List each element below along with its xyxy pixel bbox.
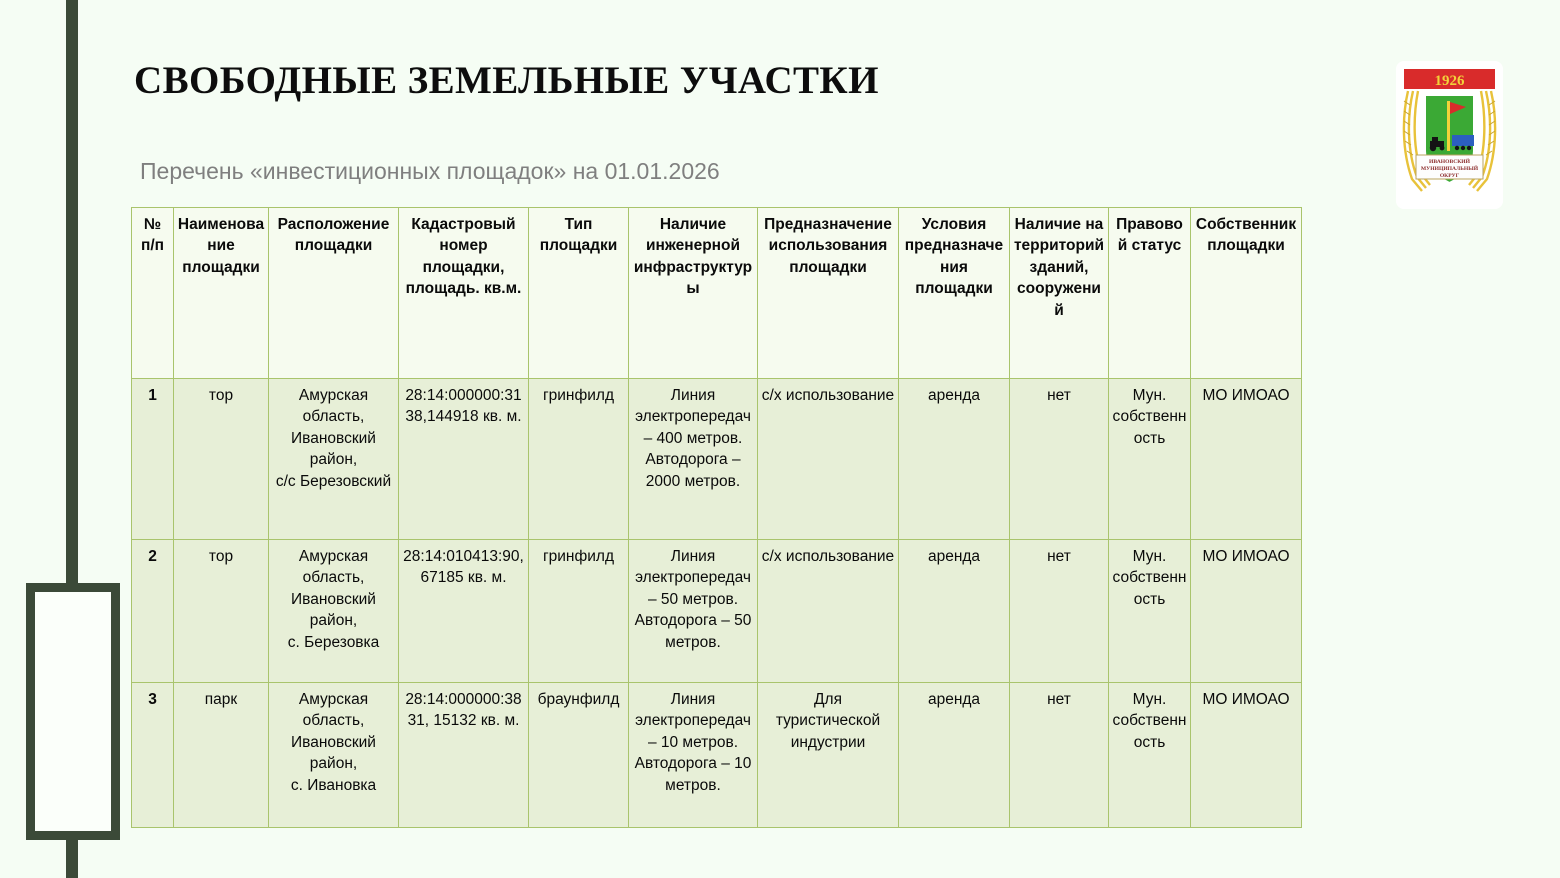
cell-conditions: аренда bbox=[899, 683, 1010, 828]
cell-legal-status: Мун. собственность bbox=[1109, 379, 1191, 540]
page-subtitle: Перечень «инвестиционных площадок» на 01… bbox=[140, 158, 720, 185]
cell-site-type: гринфилд bbox=[529, 379, 629, 540]
cell-site-type: браунфилд bbox=[529, 683, 629, 828]
column-header-site-name: Наименование площадки bbox=[174, 208, 269, 379]
column-header-site-type: Тип площадки bbox=[529, 208, 629, 379]
cell-location: Амурская область, Ивановский район, с/с … bbox=[269, 379, 399, 540]
emblem-railcar bbox=[1452, 135, 1474, 150]
column-header-number: № п/п bbox=[132, 208, 174, 379]
cell-buildings: нет bbox=[1010, 540, 1109, 683]
column-header-conditions: Условия предназначения площадки bbox=[899, 208, 1010, 379]
column-header-purpose: Предназначение использования площадки bbox=[758, 208, 899, 379]
cell-site-name: тор bbox=[174, 540, 269, 683]
cell-owner: МО ИМОАО bbox=[1191, 379, 1302, 540]
cell-cadastral: 28:14:000000:3138,144918 кв. м. bbox=[399, 379, 529, 540]
table-row: 3 парк Амурская область, Ивановский райо… bbox=[132, 683, 1302, 828]
column-header-legal-status: Правовой статус bbox=[1109, 208, 1191, 379]
cell-conditions: аренда bbox=[899, 379, 1010, 540]
emblem-ribbon-line2: МУНИЦИПАЛЬНЫЙ bbox=[1421, 164, 1479, 172]
emblem-ribbon-line3: ОКРУГ bbox=[1440, 173, 1460, 179]
investment-sites-table: № п/п Наименование площадки Расположение… bbox=[131, 207, 1302, 828]
cell-owner: МО ИМОАО bbox=[1191, 540, 1302, 683]
cell-legal-status: Мун. собственность bbox=[1109, 540, 1191, 683]
cell-number: 2 bbox=[132, 540, 174, 683]
cell-infrastructure: Линия электропередач – 10 метров. Автодо… bbox=[629, 683, 758, 828]
cell-conditions: аренда bbox=[899, 540, 1010, 683]
cell-cadastral: 28:14:010413:90,67185 кв. м. bbox=[399, 540, 529, 683]
cell-location: Амурская область, Ивановский район, с. И… bbox=[269, 683, 399, 828]
cell-number: 1 bbox=[132, 379, 174, 540]
cell-cadastral: 28:14:000000:3831, 15132 кв. м. bbox=[399, 683, 529, 828]
column-header-buildings: Наличие на территорий зданий, сооружений bbox=[1010, 208, 1109, 379]
cell-owner: МО ИМОАО bbox=[1191, 683, 1302, 828]
column-header-infrastructure: Наличие инженерной инфраструктуры bbox=[629, 208, 758, 379]
column-header-owner: Собственник площадки bbox=[1191, 208, 1302, 379]
table-header-row: № п/п Наименование площадки Расположение… bbox=[132, 208, 1302, 379]
cell-site-type: гринфилд bbox=[529, 540, 629, 683]
cell-infrastructure: Линия электропередач – 50 метров. Автодо… bbox=[629, 540, 758, 683]
cell-location: Амурская область, Ивановский район, с. Б… bbox=[269, 540, 399, 683]
cell-site-name: тор bbox=[174, 379, 269, 540]
table-row: 1 тор Амурская область, Ивановский район… bbox=[132, 379, 1302, 540]
cell-legal-status: Мун. собственность bbox=[1109, 683, 1191, 828]
emblem-ribbon-line1: ИВАНОВСКИЙ bbox=[1429, 157, 1471, 165]
investment-sites-table-wrapper: № п/п Наименование площадки Расположение… bbox=[131, 207, 1301, 828]
left-accent-rectangle bbox=[26, 583, 120, 840]
cell-purpose: с/х использование bbox=[758, 540, 899, 683]
cell-purpose: с/х использование bbox=[758, 379, 899, 540]
column-header-cadastral: Кадастровый номер площадки, площадь. кв.… bbox=[399, 208, 529, 379]
coat-of-arms-emblem: 1926 bbox=[1392, 55, 1507, 215]
page-title: СВОБОДНЫЕ ЗЕМЕЛЬНЫЕ УЧАСТКИ bbox=[134, 58, 879, 103]
table-row: 2 тор Амурская область, Ивановский район… bbox=[132, 540, 1302, 683]
cell-buildings: нет bbox=[1010, 683, 1109, 828]
cell-infrastructure: Линия электропередач – 400 метров. Автод… bbox=[629, 379, 758, 540]
cell-buildings: нет bbox=[1010, 379, 1109, 540]
cell-purpose: Для туристической индустрии bbox=[758, 683, 899, 828]
cell-number: 3 bbox=[132, 683, 174, 828]
column-header-location: Расположение площадки bbox=[269, 208, 399, 379]
cell-site-name: парк bbox=[174, 683, 269, 828]
emblem-year-text: 1926 bbox=[1435, 73, 1466, 89]
